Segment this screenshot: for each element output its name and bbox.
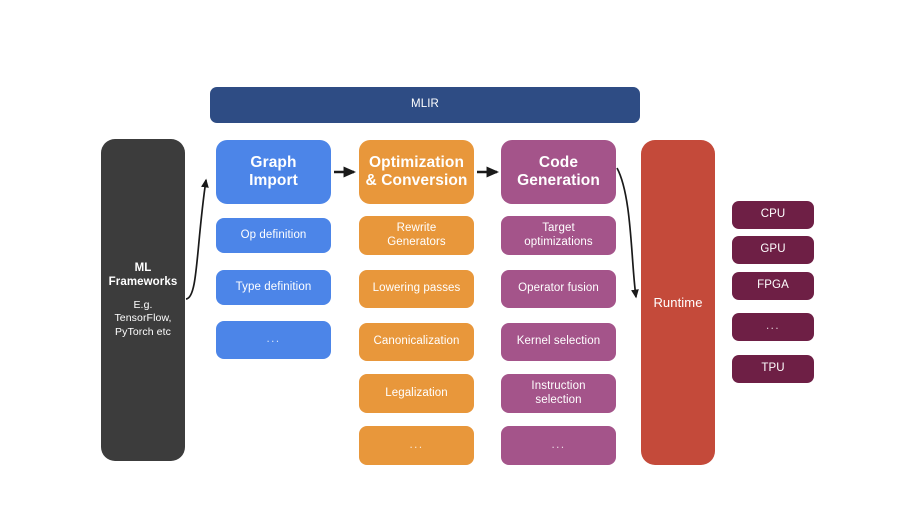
codegen-item-operator-fusion[interactable]: Operator fusion [501,270,616,308]
graph-import-item-op-definition[interactable]: Op definition [216,218,331,253]
graph-import-item-type-definition[interactable]: Type definition [216,270,331,305]
codegen-item-kernel-selection[interactable]: Kernel selection [501,323,616,361]
item-label: GPU [760,243,785,257]
optimization-item-rewrite-generators[interactable]: Rewrite Generators [359,216,474,255]
codegen-item-instruction-selection[interactable]: Instruction selection [501,374,616,413]
item-label: Rewrite Generators [387,222,446,249]
stage-optimization-conversion[interactable]: Optimization & Conversion [359,140,474,204]
diagram-canvas: MLIR ML Frameworks E.g. TensorFlow, PyTo… [0,0,900,505]
item-label: CPU [761,208,786,222]
item-label: Legalization [385,387,448,401]
arrow-frameworks-to-graph-import [186,180,206,299]
stage-graph-import[interactable]: Graph Import [216,140,331,204]
item-label: ... [766,320,780,334]
item-label: Operator fusion [518,282,599,296]
optimization-item-lowering-passes[interactable]: Lowering passes [359,270,474,308]
item-label: TPU [761,362,784,376]
stage-graph-import-label: Graph Import [249,154,298,191]
runtime-label: Runtime [653,295,702,310]
item-label: Lowering passes [373,282,461,296]
optimization-item-canonicalization[interactable]: Canonicalization [359,323,474,361]
hardware-target-gpu[interactable]: GPU [732,236,814,264]
item-label: ... [266,333,280,347]
stage-code-generation[interactable]: Code Generation [501,140,616,204]
item-label: Instruction selection [531,380,585,407]
stage-optimization-conversion-label: Optimization & Conversion [366,154,468,191]
optimization-item-more[interactable]: ... [359,426,474,465]
item-label: Canonicalization [374,335,460,349]
optimization-item-legalization[interactable]: Legalization [359,374,474,413]
item-label: Target optimizations [524,222,592,249]
ml-frameworks-pillar: ML Frameworks E.g. TensorFlow, PyTorch e… [101,139,185,461]
item-label: Kernel selection [517,335,600,349]
hardware-target-fpga[interactable]: FPGA [732,272,814,300]
hardware-target-cpu[interactable]: CPU [732,201,814,229]
ml-frameworks-title: ML Frameworks [109,261,178,289]
arrow-code-generation-to-runtime [617,168,636,297]
item-label: ... [551,439,565,453]
mlir-header-bar: MLIR [210,87,640,123]
hardware-target-more[interactable]: ... [732,313,814,341]
item-label: FPGA [757,279,789,293]
codegen-item-more[interactable]: ... [501,426,616,465]
ml-frameworks-subtitle: E.g. TensorFlow, PyTorch etc [114,299,171,338]
item-label: ... [409,439,423,453]
hardware-target-tpu[interactable]: TPU [732,355,814,383]
mlir-label: MLIR [411,98,439,112]
item-label: Op definition [241,229,307,243]
codegen-item-target-optimizations[interactable]: Target optimizations [501,216,616,255]
runtime-pillar[interactable]: Runtime [641,140,715,465]
stage-code-generation-label: Code Generation [517,154,600,191]
graph-import-item-more[interactable]: ... [216,321,331,359]
item-label: Type definition [236,281,312,295]
